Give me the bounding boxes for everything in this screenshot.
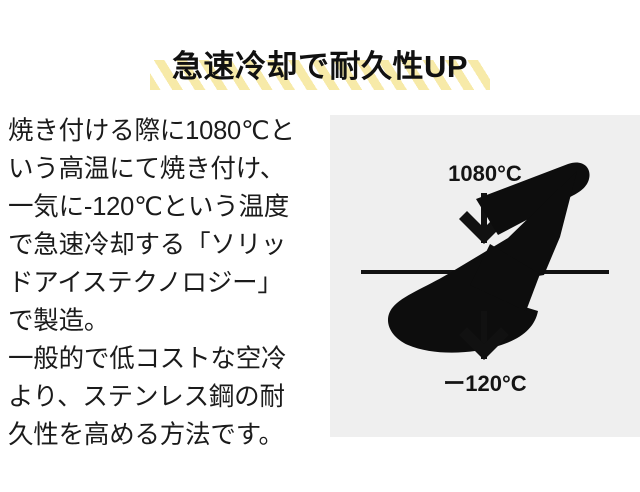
body-copy: 焼き付ける際に1080℃と いう高温にて焼き付け、 一気に-120℃という温度 … — [8, 112, 320, 454]
page-title-block: 急速冷却で耐久性UP — [0, 26, 640, 90]
copy-line: で製造。 — [8, 302, 320, 340]
title-wrap: 急速冷却で耐久性UP — [150, 51, 490, 90]
bottom-temperature-label: ー120°C — [443, 371, 527, 396]
top-temperature-label: 1080°C — [448, 161, 522, 186]
copy-line: より、ステンレス鋼の耐 — [8, 378, 320, 416]
copy-line: いう高温にて焼き付け、 — [8, 150, 320, 188]
copy-line: 久性を高める方法です。 — [8, 416, 320, 454]
copy-line: で急速冷却する「ソリッ — [8, 226, 320, 264]
copy-line: 焼き付ける際に1080℃と — [8, 112, 320, 150]
copy-line: 一気に-120℃という温度 — [8, 188, 320, 226]
illustration-panel: 1080°C ー120°C — [330, 115, 640, 437]
knife-silhouette — [388, 162, 590, 352]
page-title: 急速冷却で耐久性UP — [172, 51, 468, 84]
copy-line: ドアイステクノロジー」 — [8, 264, 320, 302]
copy-line: 一般的で低コストな空冷 — [8, 340, 320, 378]
